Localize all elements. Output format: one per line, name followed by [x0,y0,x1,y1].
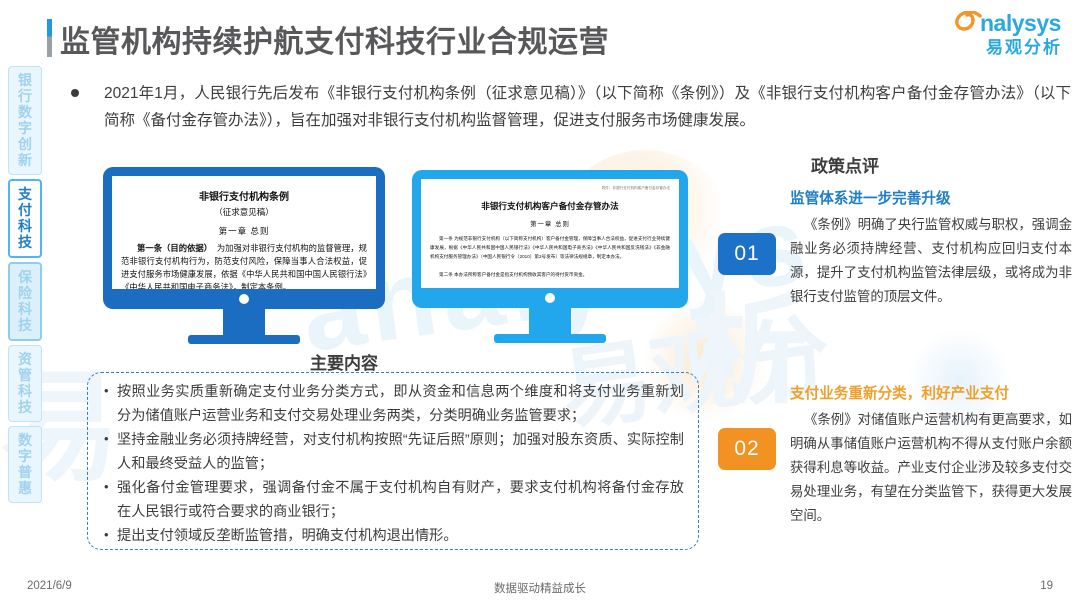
footer-tagline: 数据驱动精益成长 [494,580,586,596]
footer-date: 2021/6/9 [27,580,72,592]
main-content-box: 按照业务实质重新确定支付业务分类方式，即从资金和信息两个维度和将支付业务重新划分… [87,372,699,550]
footer: 2021/6/9 数据驱动精益成长 19 [0,580,1080,600]
sidebar-item-insurance-tech[interactable]: 保 险 科 技 [8,262,42,341]
tab-char: 惠 [9,480,41,496]
tab-char: 字 [9,120,41,136]
monitor-frame: 附件：非银行支付机构客户备付金存管办法 非银行支付机构客户备付金存管办法 第一章… [412,170,688,308]
policy-badge-02: 02 [718,428,776,470]
doc2-title: 非银行支付机构客户备付金存管办法 [430,200,670,212]
policy-item-02-heading: 支付业务重新分类，利好产业支付 [790,383,1072,405]
monitor-power-dot-icon [239,294,249,304]
slide-root: analysys 易观分 析 易 监管机构持续护航支付科技行业合规运营 naly… [0,0,1080,608]
doc1-title: 非银行支付机构条例 [121,188,367,203]
tab-char: 科 [9,383,41,399]
tab-char: 普 [9,464,41,480]
main-content-bullet: 提出支付领域反垄断监管措，明确支付机构退出情形。 [102,524,684,548]
doc2-body: 第一条 为规范非银行支付机构（以下简称支付机构）客户备付金管理，保障当事人合法权… [430,234,670,261]
doc2-chapter: 第一章 总则 [430,219,670,228]
intro-bullet-text: 2021年1月，人民银行先后发布《非银行支付机构条例（征求意见稿）》（以下简称《… [104,80,1071,134]
intro-bullet: 2021年1月，人民银行先后发布《非银行支付机构条例（征求意见稿）》（以下简称《… [71,80,1071,134]
tab-char: 技 [10,234,40,250]
doc2-body-2: 第二条 本办法所称客户备付金是指支付机构预收其客户的待付货币资金。 [430,270,670,279]
doc1-body: 第一条（目的依据） 为加强对非银行支付机构的监督管理，规范非银行支付机构行为，防… [121,242,367,289]
doc2-body-text: 为规范非银行支付机构（以下简称支付机构）客户备付金管理，保障当事人合法权益，促进… [430,236,670,259]
tab-char: 技 [10,317,40,333]
tab-char: 创 [9,136,41,152]
title-accent-bar [47,19,52,57]
footer-page-number: 19 [1040,580,1053,592]
tab-char: 管 [9,367,41,383]
sidebar-item-bank-digital-innovation[interactable]: 银 行 数 字 创 新 [8,66,42,175]
main-content-bullet: 坚持金融业务必须持牌经营，对支付机构按照“先证后照”原则；加强对股东资质、实际控… [102,428,684,476]
policy-badge-01: 01 [718,233,776,275]
tab-char: 新 [9,152,41,168]
monitor-frame: 非银行支付机构条例 （征求意见稿） 第一章 总则 第一条（目的依据） 为加强对非… [103,167,385,309]
main-content-heading: 主要内容 [310,349,378,374]
monitor-screen: 非银行支付机构条例 （征求意见稿） 第一章 总则 第一条（目的依据） 为加强对非… [112,176,376,289]
tab-char: 字 [9,448,41,464]
analysys-logo: nalysys 易观分析 [942,10,1064,60]
doc1-subtitle: （征求意见稿） [121,206,367,218]
doc2-body-lead: 第一条 [439,236,453,241]
tab-char: 技 [9,399,41,415]
policy-item-02: 支付业务重新分类，利好产业支付 《条例》对储值账户运营机构有更高要求，如明确从事… [790,383,1072,528]
tab-char: 行 [9,88,41,104]
monitor-power-dot-icon [545,293,555,303]
tab-char: 险 [10,285,40,301]
tab-char: 支 [10,186,40,202]
main-content-bullet: 强化备付金管理要求，强调备付金不属于支付机构自有财产，要求支付机构将备付金存放在… [102,476,684,524]
monitor-screen: 附件：非银行支付机构客户备付金存管办法 非银行支付机构客户备付金存管办法 第一章… [421,179,679,288]
logo-wordmark: nalysys [980,11,1061,35]
page-title: 监管机构持续护航支付科技行业合规运营 [60,17,609,61]
sidebar-item-asset-management-tech[interactable]: 资 管 科 技 [8,345,42,422]
logo-swoosh-icon [955,11,983,42]
tab-char: 资 [9,351,41,367]
tab-char: 数 [9,432,41,448]
tab-char: 科 [10,218,40,234]
monitor-regulation-draft: 非银行支付机构条例 （征求意见稿） 第一章 总则 第一条（目的依据） 为加强对非… [103,167,385,344]
policy-item-01: 监管体系进一步完善升级 《条例》明确了央行监管权威与职权，强调金融业务必须持牌经… [790,188,1072,309]
main-content-bullet: 按照业务实质重新确定支付业务分类方式，即从资金和信息两个维度和将支付业务重新划分… [102,380,684,428]
sidebar-item-digital-inclusive-finance[interactable]: 数 字 普 惠 [8,426,42,503]
monitor-stand-neck [529,308,571,334]
policy-item-01-text: 《条例》明确了央行监管权威与职权，强调金融业务必须持牌经营、支付机构应回归支付本… [790,213,1072,309]
monitor-stand-base [494,334,606,343]
monitor-stand-base [188,335,300,344]
tab-char: 科 [10,301,40,317]
tab-char: 保 [10,269,40,285]
doc1-chapter: 第一章 总则 [121,225,367,237]
sidebar-item-payment-tech[interactable]: 支 付 科 技 [8,179,42,258]
policy-item-02-text: 《条例》对储值账户运营机构有更高要求，如明确从事储值账户运营机构不得从支付账户余… [790,408,1072,528]
sidebar: 银 行 数 字 创 新 支 付 科 技 保 险 科 技 资 管 科 技 数 字 [8,66,42,507]
tab-char: 银 [9,72,41,88]
tab-char: 数 [9,104,41,120]
doc2-header-note: 附件：非银行支付机构客户备付金存管办法 [430,186,670,191]
tab-char: 付 [10,202,40,218]
monitor-custody-measures: 附件：非银行支付机构客户备付金存管办法 非银行支付机构客户备付金存管办法 第一章… [412,170,688,343]
monitor-stand-neck [223,309,265,335]
bullet-dot-icon [71,89,79,97]
doc1-body-lead: 第一条（目的依据） [137,243,212,253]
policy-item-01-heading: 监管体系进一步完善升级 [790,188,1072,210]
policy-review-heading: 政策点评 [811,152,879,177]
